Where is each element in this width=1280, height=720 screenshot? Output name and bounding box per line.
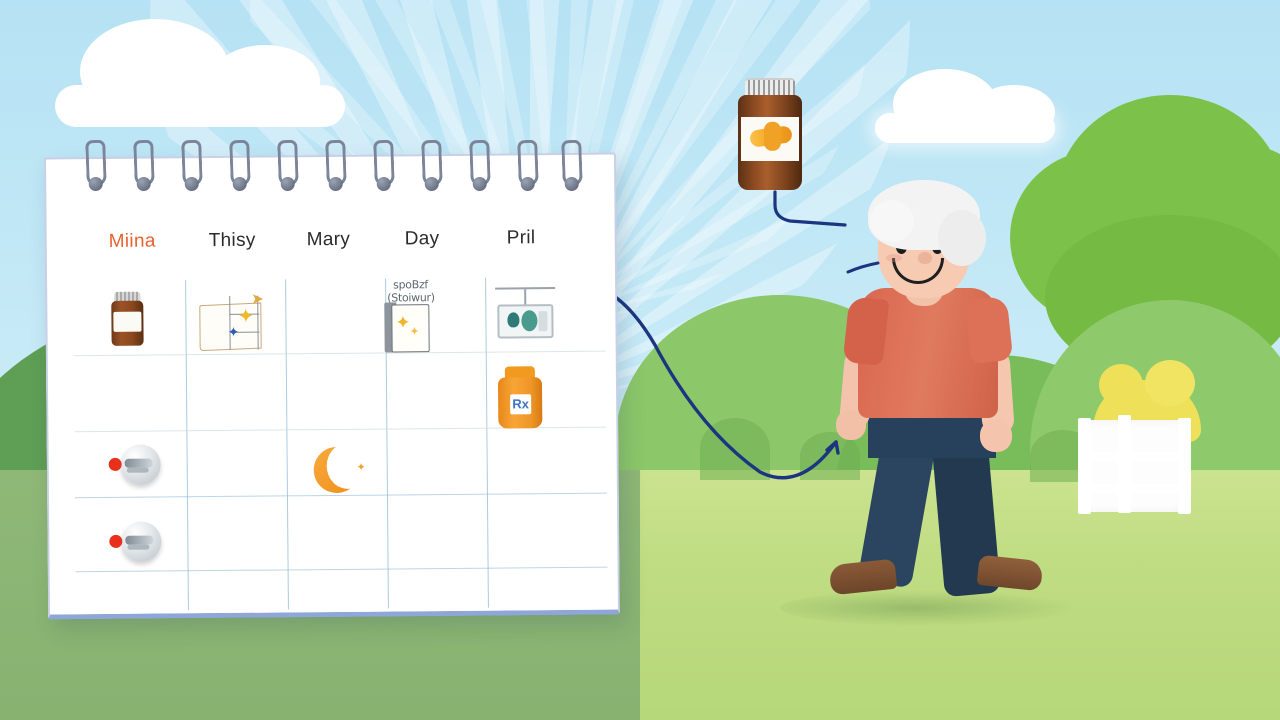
moon-sparkle-icon: ✦: [356, 461, 365, 474]
burst-icon-small: ✦: [409, 324, 419, 338]
alert-pill-disc-icon: [109, 444, 161, 488]
calendar-gridline-h3: [75, 493, 607, 499]
illustration-scene: Miina Thisy Mary Day Pril: [0, 0, 1280, 720]
medication-calendar[interactable]: Miina Thisy Mary Day Pril: [44, 153, 620, 620]
screen-sidebar: [538, 311, 547, 331]
planter-post-left: [1078, 418, 1091, 514]
bottle-label: [741, 117, 799, 161]
brown-medicine-bottle-icon: [110, 292, 144, 346]
binding-ring: [517, 140, 539, 187]
binding-ring: [373, 140, 395, 187]
binding-ring: [469, 140, 491, 187]
grass-tuft-a: [700, 418, 770, 480]
calendar-column-header-0[interactable]: Miina: [109, 231, 156, 253]
monitor-screen: [497, 304, 553, 338]
planter-box: [1082, 420, 1190, 512]
alert-dot-icon: [109, 458, 122, 471]
pill-disc-slot-secondary: [127, 468, 149, 473]
jar-label: Rx: [510, 394, 531, 414]
screen-blob-b: [521, 310, 537, 331]
binding-ring: [561, 140, 583, 187]
calendar-gridline-h1: [74, 351, 606, 357]
alert-pill-disc-icon: [109, 521, 161, 565]
bird-icon: ➤: [251, 290, 264, 308]
binding-ring: [229, 140, 251, 187]
binding-ring: [277, 140, 299, 187]
calendar-gridline-h4: [76, 567, 608, 573]
star-icon: ✦: [237, 307, 254, 327]
floating-supplement-bottle: [738, 78, 802, 190]
orange-pill-jar-icon: Rx: [498, 366, 543, 428]
calendar-column-header-2[interactable]: Mary: [307, 229, 351, 251]
monitor-stem: [524, 289, 526, 305]
bottle-label: [113, 312, 141, 332]
hair-front: [870, 200, 914, 242]
planter-slat-bottom: [1082, 484, 1190, 493]
pill-disc-slot-secondary: [127, 545, 149, 550]
binding-ring: [181, 140, 203, 187]
binding-ring: [325, 140, 347, 187]
cheek-left: [886, 254, 902, 262]
figure-shadow: [780, 590, 1080, 626]
calendar-spiral-binding: [46, 140, 618, 200]
monitor-screen-icon: [495, 287, 555, 340]
planter-slat-top: [1082, 452, 1190, 461]
calendar-gridline-v4: [485, 278, 489, 608]
alert-dot-icon: [109, 535, 122, 548]
handnote-line-1: spoBzf: [393, 278, 428, 291]
sleeve-left: [843, 296, 890, 366]
screen-blob-a: [507, 312, 519, 327]
calendar-page: Miina Thisy Mary Day Pril: [46, 155, 618, 615]
calendar-gridline-v2: [285, 279, 289, 609]
sketch-notebook-icon: ✦ ➤ ✦: [199, 289, 284, 352]
sleeve-right: [965, 296, 1013, 364]
hair-side: [938, 210, 986, 266]
handwritten-note-icon: spoBzf (Stoiwur) ✦ ✦: [379, 278, 466, 357]
hand-right: [980, 420, 1012, 452]
planter-post-mid: [1118, 415, 1131, 513]
crescent-moon-icon: ✦: [314, 447, 360, 493]
pill-disc-slot: [125, 536, 153, 545]
calendar-column-headers: Miina Thisy Mary Day Pril: [47, 227, 615, 276]
calendar-column-header-3[interactable]: Day: [405, 228, 440, 250]
calendar-gridline-v1: [185, 280, 189, 610]
binding-ring: [85, 140, 107, 187]
capsule-icon: [749, 125, 793, 148]
blue-mark-icon: ✦: [227, 324, 239, 341]
binding-ring: [133, 140, 155, 187]
pill-disc-slot: [125, 459, 153, 468]
cloud-right: [875, 113, 1055, 143]
planter-post-right: [1178, 418, 1191, 514]
calendar-column-header-4[interactable]: Pril: [507, 227, 536, 249]
binding-ring: [421, 140, 443, 187]
cloud-left: [55, 85, 345, 127]
burst-icon: ✦: [395, 312, 410, 333]
walking-senior-man: [820, 170, 1050, 630]
calendar-column-header-1[interactable]: Thisy: [209, 230, 256, 252]
